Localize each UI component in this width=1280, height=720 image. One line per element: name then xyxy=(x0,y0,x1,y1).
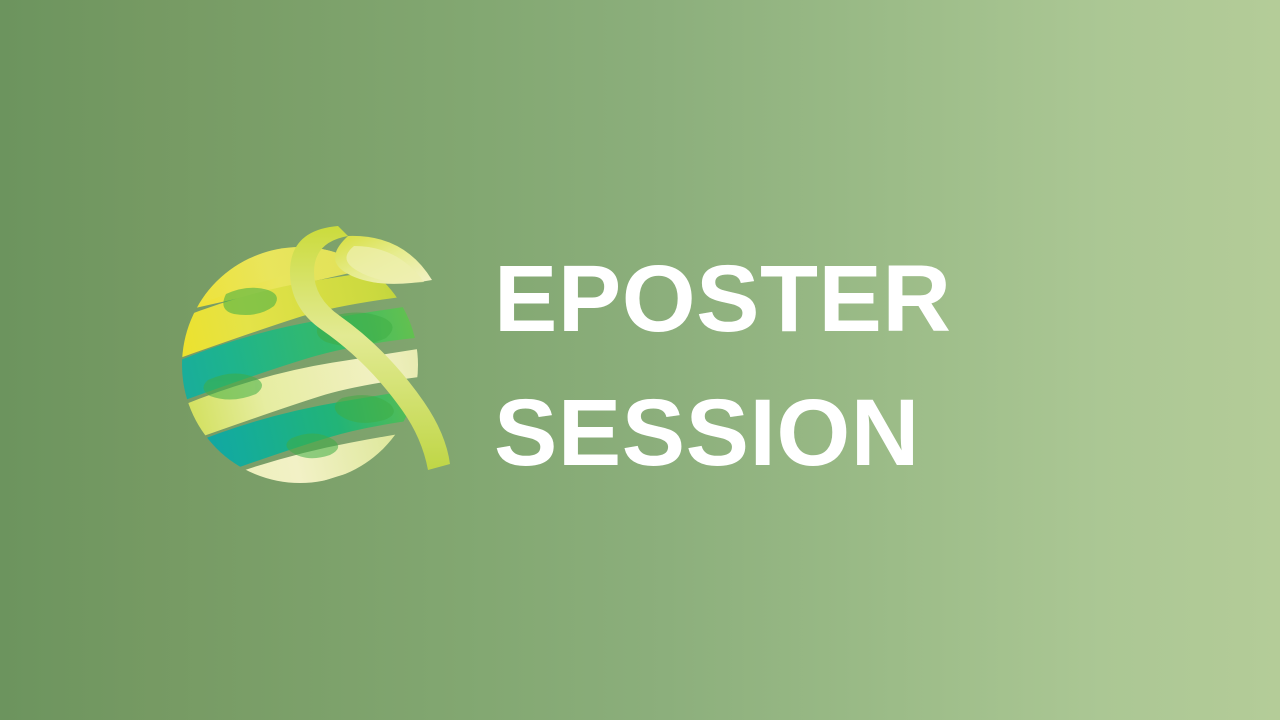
spiral-ribbon-globe-logo xyxy=(172,202,472,514)
slide-title: EPOSTER SESSION xyxy=(494,232,1114,500)
slide-canvas: EPOSTER SESSION xyxy=(0,0,1280,720)
title-line-1: EPOSTER xyxy=(494,232,1114,366)
title-line-2: SESSION xyxy=(494,366,1114,500)
globe-ribbons xyxy=(172,205,472,514)
